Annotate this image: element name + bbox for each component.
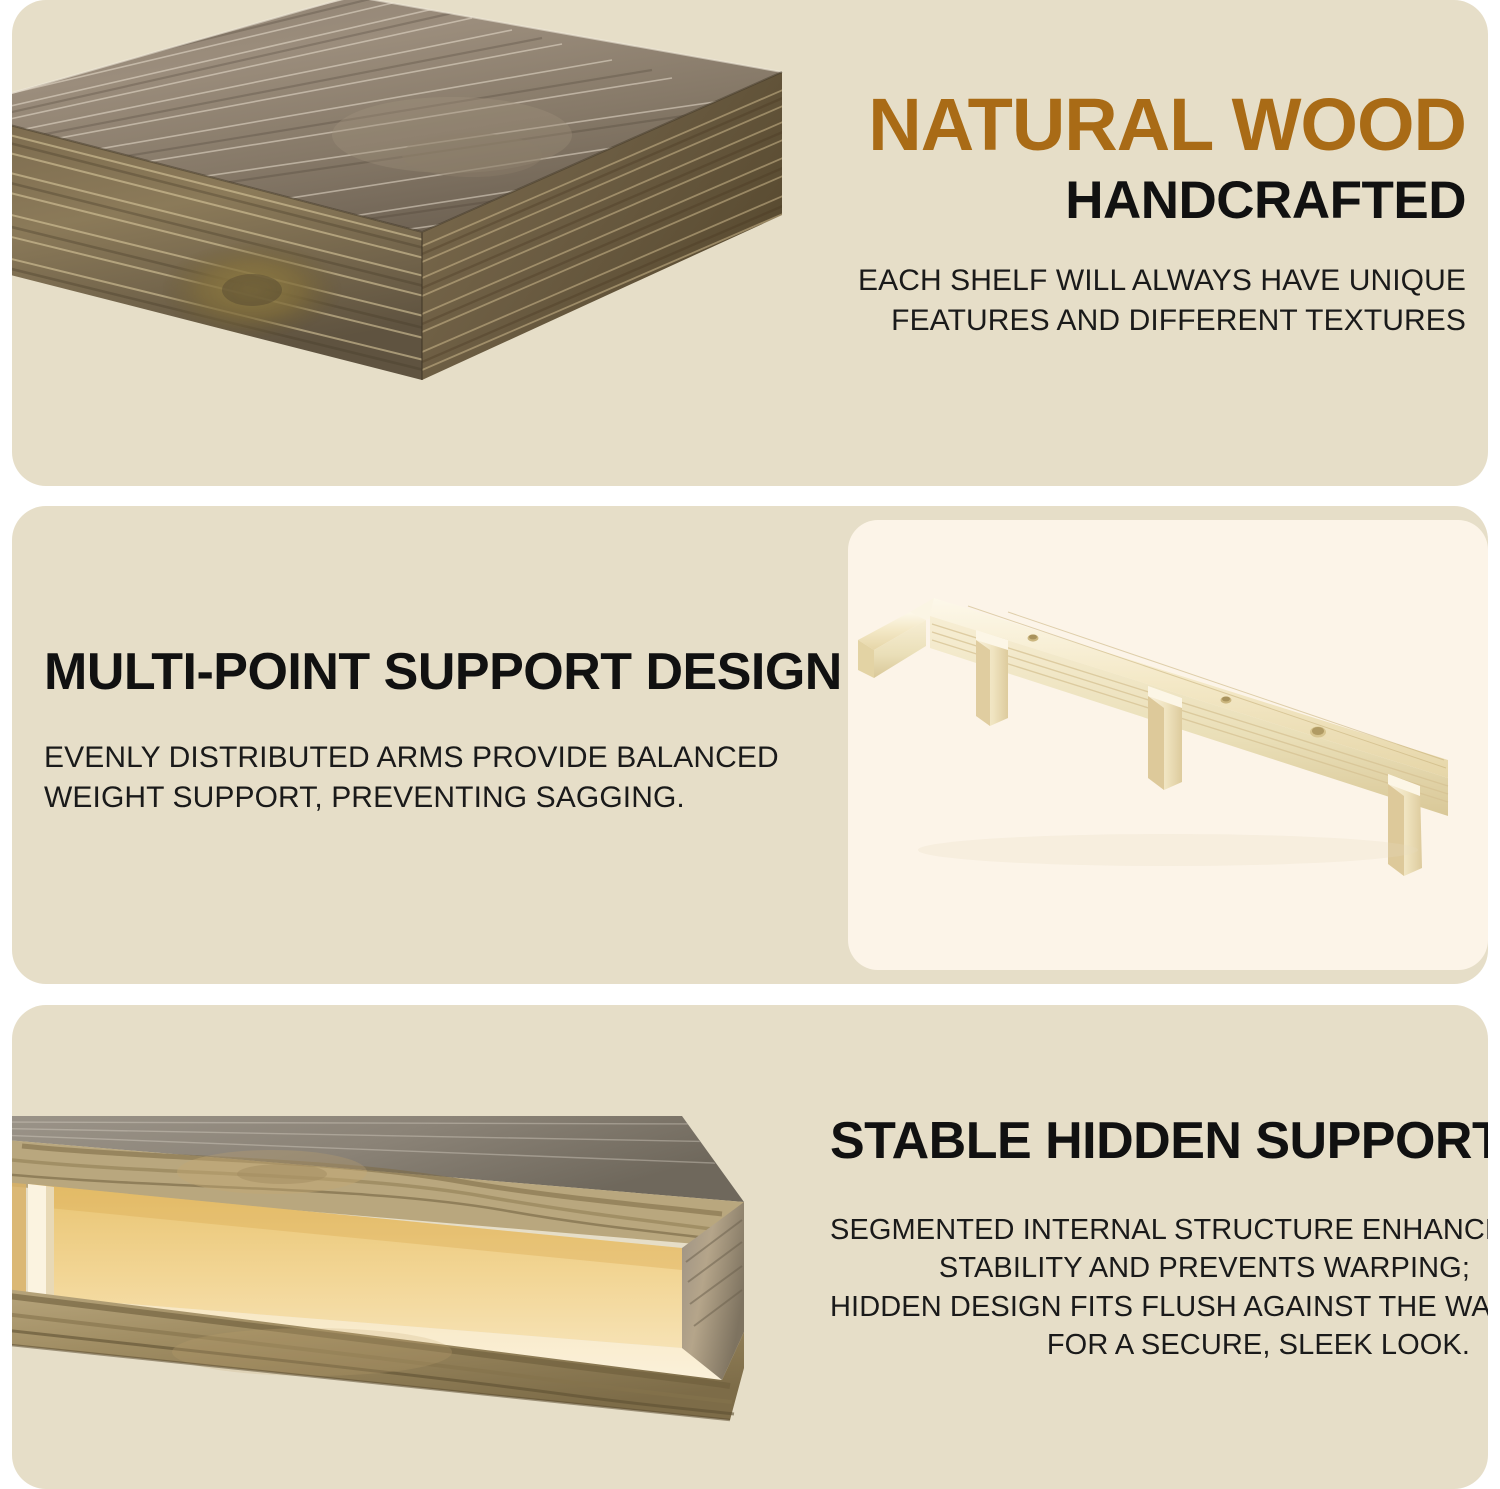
natural-wood-body: EACH SHELF WILL ALWAYS HAVE UNIQUE FEATU… <box>826 261 1466 340</box>
natural-wood-body-line-2: FEATURES AND DIFFERENT TEXTURES <box>826 301 1466 341</box>
stable-hidden-body-line-2: STABILITY AND PREVENTS WARPING; <box>830 1249 1470 1287</box>
natural-wood-body-line-1: EACH SHELF WILL ALWAYS HAVE UNIQUE <box>826 261 1466 301</box>
bracket-arm-left <box>858 612 926 678</box>
multi-point-body: EVENLY DISTRIBUTED ARMS PROVIDE BALANCED… <box>44 738 824 817</box>
multi-point-text-block: MULTI-POINT SUPPORT DESIGN EVENLY DISTRI… <box>44 646 824 817</box>
wood-block-photo <box>12 0 852 480</box>
hollow-shelf-photo <box>12 1080 862 1489</box>
bracket-image-card <box>848 520 1488 970</box>
panel-stable-hidden-support: STABLE HIDDEN SUPPORT SEGMENTED INTERNAL… <box>12 1005 1488 1489</box>
multi-point-headline: MULTI-POINT SUPPORT DESIGN <box>44 646 824 698</box>
handcrafted-subheadline: HANDCRAFTED <box>826 174 1466 227</box>
bracket-arm-3 <box>1148 686 1182 790</box>
shelf-internal-divider <box>28 1184 54 1302</box>
natural-wood-text-block: NATURAL WOOD HANDCRAFTED EACH SHELF WILL… <box>826 88 1466 340</box>
natural-wood-headline: NATURAL WOOD <box>826 88 1466 162</box>
panel-natural-wood: NATURAL WOOD HANDCRAFTED EACH SHELF WILL… <box>12 0 1488 486</box>
bracket-arm-4 <box>1388 774 1422 876</box>
stable-hidden-body-line-4: FOR A SECURE, SLEEK LOOK. <box>830 1326 1470 1364</box>
shelf-bracket-photo <box>848 520 1488 970</box>
multi-point-body-line-1: EVENLY DISTRIBUTED ARMS PROVIDE BALANCED <box>44 738 824 778</box>
stable-hidden-body-line-1: SEGMENTED INTERNAL STRUCTURE ENHANCES <box>830 1211 1470 1249</box>
stable-hidden-text-block: STABLE HIDDEN SUPPORT SEGMENTED INTERNAL… <box>830 1115 1470 1364</box>
stable-hidden-headline: STABLE HIDDEN SUPPORT <box>830 1115 1470 1167</box>
stable-hidden-body-line-3: HIDDEN DESIGN FITS FLUSH AGAINST THE WAL… <box>830 1288 1470 1326</box>
panel-multi-point-support: MULTI-POINT SUPPORT DESIGN EVENLY DISTRI… <box>12 506 1488 984</box>
multi-point-body-line-2: WEIGHT SUPPORT, PREVENTING SAGGING. <box>44 778 824 818</box>
stable-hidden-body: SEGMENTED INTERNAL STRUCTURE ENHANCES ST… <box>830 1211 1470 1364</box>
bracket-arm-2 <box>976 630 1008 726</box>
